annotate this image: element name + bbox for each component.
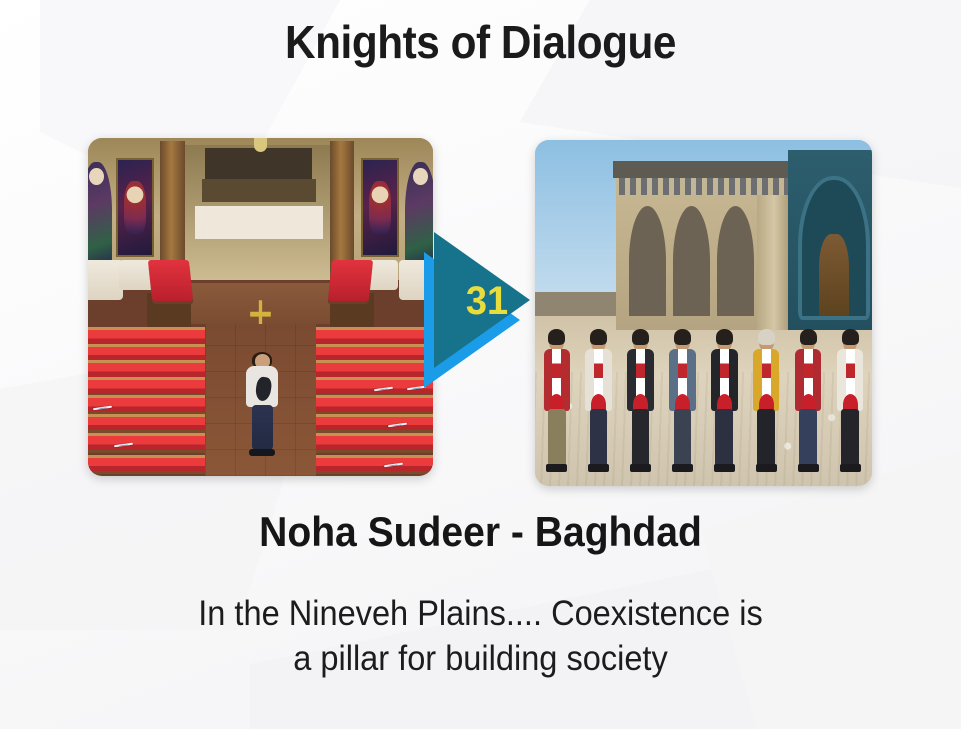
icon-banner xyxy=(116,158,155,257)
pew-group-left xyxy=(88,324,205,476)
caption-line-2: a pillar for building society xyxy=(34,637,928,682)
jeans xyxy=(252,405,273,450)
parapet xyxy=(613,161,802,178)
altar-table xyxy=(195,206,323,239)
caption-line-1: In the Nineveh Plains.... Coexistence is xyxy=(34,592,928,637)
altar-upper xyxy=(202,179,316,203)
wooden-door xyxy=(819,234,850,316)
shrine-scene xyxy=(535,140,872,486)
red-draped-chair xyxy=(148,260,194,301)
pew xyxy=(316,395,433,415)
decorative-frieze xyxy=(619,178,794,195)
statue-head xyxy=(413,168,428,185)
portal-arch xyxy=(798,176,870,321)
person xyxy=(626,332,656,472)
pew-leaflet xyxy=(388,423,407,428)
icon-banner xyxy=(361,158,400,257)
group-of-people xyxy=(542,320,866,472)
pew-leaflet xyxy=(374,387,393,392)
pew xyxy=(88,433,205,453)
pew xyxy=(316,377,433,397)
person-name: Noha Sudeer - Baghdad xyxy=(34,508,928,556)
stone-pier xyxy=(757,195,787,330)
step-badge: 31 xyxy=(424,228,544,398)
saint-figure xyxy=(369,181,391,234)
pew xyxy=(316,455,433,475)
pew-leaflet xyxy=(114,443,133,448)
caption: In the Nineveh Plains.... Coexistence is… xyxy=(34,592,928,682)
group-at-shrine-photo xyxy=(535,140,872,486)
pew-leaflet xyxy=(93,405,112,410)
pew xyxy=(88,414,205,434)
statue-head xyxy=(89,168,104,185)
arched-opening xyxy=(629,206,666,317)
pew-group-right xyxy=(316,324,433,476)
person xyxy=(835,332,865,472)
pew-leaflet xyxy=(384,463,403,468)
person xyxy=(793,332,823,472)
person xyxy=(752,332,782,472)
slide-title: Knights of Dialogue xyxy=(38,15,922,69)
church-scene xyxy=(88,138,433,476)
statue-pedestal xyxy=(88,260,123,301)
person xyxy=(542,332,572,472)
slide-root: Knights of Dialogue xyxy=(0,0,961,729)
altar-backdrop xyxy=(205,148,312,178)
red-draped-chair xyxy=(327,260,373,301)
person xyxy=(668,332,698,472)
pew xyxy=(88,377,205,397)
pew xyxy=(316,433,433,453)
pew xyxy=(88,395,205,415)
shoe xyxy=(258,449,275,456)
woman-in-aisle xyxy=(243,354,281,455)
tiled-portal xyxy=(788,150,872,330)
saint-figure xyxy=(124,181,146,234)
badge-number: 31 xyxy=(452,276,522,326)
person xyxy=(584,332,614,472)
saint-statue xyxy=(88,162,112,270)
pew xyxy=(316,414,433,434)
church-interior-photo xyxy=(88,138,433,476)
sanctuary-lamp-icon xyxy=(254,138,268,152)
arched-opening xyxy=(717,206,754,317)
pew xyxy=(88,455,205,475)
arched-opening xyxy=(673,206,710,317)
person xyxy=(710,332,740,472)
